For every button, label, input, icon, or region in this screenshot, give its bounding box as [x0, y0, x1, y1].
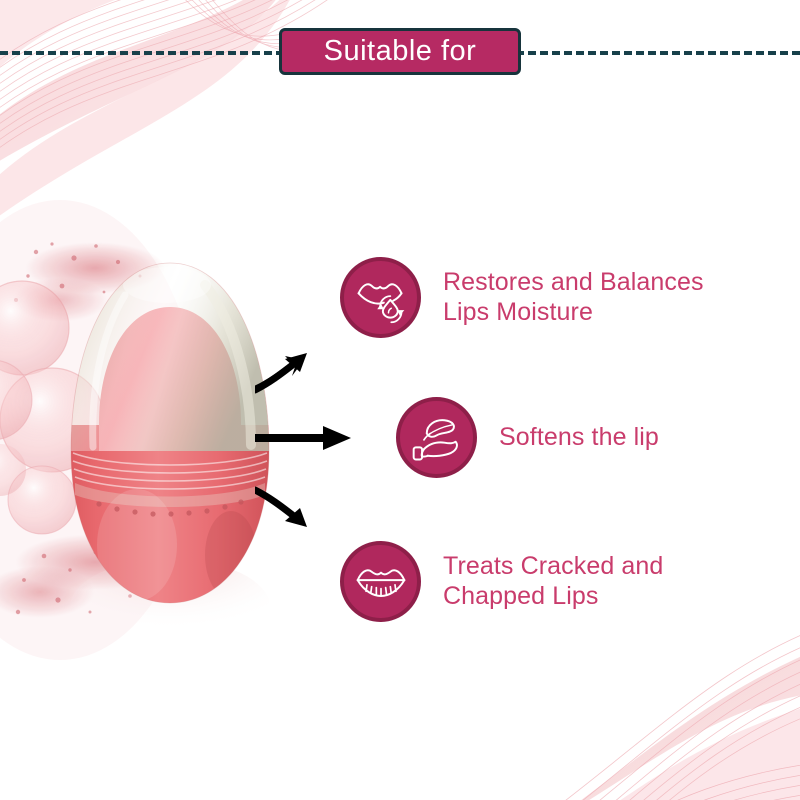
benefit-label: Restores and Balances Lips Moisture: [443, 268, 704, 327]
arrow-right: [255, 426, 351, 450]
arrow-up-right: [255, 353, 307, 392]
arrow-group: [255, 350, 385, 540]
header-badge: Suitable for: [279, 28, 521, 75]
benefit-item-softens-lip[interactable]: Softens the lip: [396, 397, 659, 478]
suitable-for-infographic: Suitable for: [0, 0, 800, 800]
header-badge-label: Suitable for: [324, 37, 477, 66]
arrow-down-right: [255, 490, 307, 527]
cracked-lips-icon: [340, 541, 421, 622]
benefit-item-cracked-lips[interactable]: Treats Cracked and Chapped Lips: [340, 541, 663, 622]
lips-moisture-drop-icon: [340, 257, 421, 338]
benefit-label: Treats Cracked and Chapped Lips: [443, 552, 663, 611]
benefit-label: Softens the lip: [499, 423, 659, 453]
benefit-item-restores-moisture[interactable]: Restores and Balances Lips Moisture: [340, 257, 704, 338]
hand-feather-icon: [396, 397, 477, 478]
wave-ribbon-bottom-right: [520, 620, 800, 800]
product-image: [55, 255, 285, 655]
